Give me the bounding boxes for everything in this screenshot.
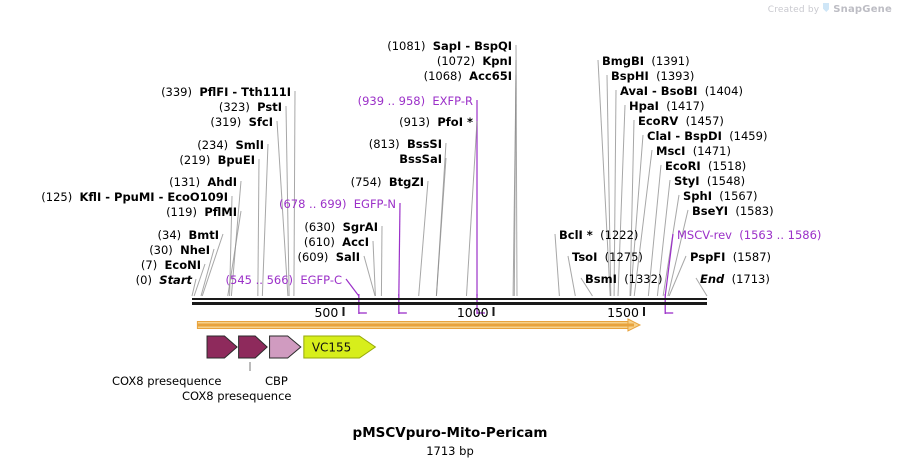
- leader-line: [618, 105, 625, 296]
- enzyme-name: BssSI: [407, 137, 442, 151]
- enzyme-name: AhdI: [207, 175, 237, 189]
- enzyme-position: (34): [158, 228, 182, 242]
- leader-line: [346, 279, 359, 296]
- enzyme-label[interactable]: BspHI (1393): [611, 71, 694, 83]
- feature-label: CBP: [265, 374, 288, 388]
- enzyme-label[interactable]: EcoRV (1457): [638, 116, 724, 128]
- feature-label: COX8 presequence: [112, 374, 221, 388]
- enzyme-position: (1567): [719, 189, 757, 203]
- enzyme-position: (1457): [686, 114, 724, 128]
- ruler-tick-label: 1000: [457, 305, 489, 320]
- leader-line: [294, 91, 295, 296]
- enzyme-name: BsmI: [585, 272, 617, 286]
- enzyme-name: BpuEI: [218, 153, 255, 167]
- enzyme-name: MSCV-rev: [677, 228, 732, 242]
- leader-line: [665, 234, 673, 296]
- enzyme-name: EXFP-R: [432, 94, 473, 108]
- enzyme-label[interactable]: (34) BmtI: [158, 230, 219, 242]
- enzyme-name: MscI: [656, 144, 685, 158]
- enzyme-name: SfcI: [249, 115, 273, 129]
- enzyme-position: (630): [304, 220, 335, 234]
- enzyme-label[interactable]: EcoRI (1518): [665, 161, 746, 173]
- enzyme-name: SmlI: [236, 138, 265, 152]
- ruler-tick: [342, 307, 344, 316]
- snapgene-watermark: Created by SnapGene: [768, 2, 892, 17]
- enzyme-position: (125): [41, 190, 72, 204]
- enzyme-name: SgrAI: [343, 220, 378, 234]
- enzyme-name: EcoNI: [165, 258, 201, 272]
- enzyme-position: (219): [179, 153, 210, 167]
- enzyme-label[interactable]: MscI (1471): [656, 146, 731, 158]
- enzyme-label[interactable]: MSCV-rev (1563 .. 1586): [677, 230, 821, 242]
- leader-line: [381, 226, 382, 296]
- enzyme-label[interactable]: (323) PstI: [219, 102, 282, 114]
- enzyme-name: ClaI - BspDI: [647, 129, 722, 143]
- enzyme-position: (1222): [600, 228, 638, 242]
- enzyme-name: BclI *: [559, 228, 593, 242]
- leader-line: [419, 181, 428, 296]
- enzyme-position: (1587): [733, 250, 771, 264]
- watermark-brand: SnapGene: [833, 4, 892, 15]
- feature-arrow[interactable]: [207, 336, 237, 358]
- enzyme-position: (1393): [656, 69, 694, 83]
- enzyme-name: AccI: [342, 235, 369, 249]
- enzyme-label[interactable]: (0) Start: [136, 275, 192, 287]
- enzyme-position: (1404): [705, 84, 743, 98]
- enzyme-label[interactable]: (30) NheI: [149, 245, 210, 257]
- enzyme-label[interactable]: (630) SgrAI: [304, 222, 378, 234]
- enzyme-position: (1713): [732, 272, 770, 286]
- feature-label-text: COX8 presequence: [112, 374, 221, 388]
- enzyme-label[interactable]: (609) SalI: [297, 252, 360, 264]
- enzyme-position: (545 .. 566): [226, 273, 294, 287]
- leader-line: [669, 256, 686, 296]
- plasmid-map-canvas: Created by SnapGene 50010001500VC155 (10…: [0, 0, 900, 465]
- page-title: pMSCVpuro-Mito-Pericam: [0, 425, 900, 441]
- enzyme-label[interactable]: (1068) Acc65I: [424, 71, 512, 83]
- leader-line: [614, 90, 616, 296]
- enzyme-name: SalI: [336, 250, 360, 264]
- leader-line: [399, 203, 400, 296]
- enzyme-label[interactable]: SphI (1567): [683, 191, 758, 203]
- enzyme-name: KflI - PpuMI - EcoO109I: [80, 190, 228, 204]
- enzyme-position: (610): [304, 235, 335, 249]
- enzyme-label[interactable]: BseYI (1583): [692, 206, 774, 218]
- enzyme-name: Acc65I: [469, 69, 512, 83]
- enzyme-position: (339): [161, 85, 192, 99]
- feature-label-text: CBP: [265, 374, 288, 388]
- enzyme-label[interactable]: (545 .. 566) EGFP-C: [226, 275, 342, 287]
- enzyme-label[interactable]: PspFI (1587): [690, 252, 771, 264]
- enzyme-name: HpaI: [629, 99, 659, 113]
- feature-arrow-label: VC155: [312, 341, 352, 355]
- leader-line: [436, 158, 446, 296]
- enzyme-label[interactable]: BsmI (1332): [585, 274, 662, 286]
- enzyme-position: (1391): [651, 54, 689, 68]
- leader-line: [555, 234, 559, 296]
- feature-label: COX8 presequence: [182, 389, 291, 403]
- enzyme-label[interactable]: AvaI - BsoBI (1404): [620, 86, 743, 98]
- enzyme-name: StyI: [674, 174, 700, 188]
- enzyme-name: BspHI: [611, 69, 649, 83]
- orf-arrow-core: [197, 324, 634, 327]
- enzyme-name: PstI: [257, 100, 282, 114]
- enzyme-position: (319): [210, 115, 241, 129]
- enzyme-position: (754): [351, 175, 382, 189]
- enzyme-position: (131): [169, 175, 200, 189]
- enzyme-name: PflFI - Tth111I: [199, 85, 291, 99]
- enzyme-label[interactable]: (913) PfoI *: [399, 117, 473, 129]
- leader-line: [373, 241, 375, 296]
- enzyme-label[interactable]: (319) SfcI: [210, 117, 273, 129]
- enzyme-name: EcoRV: [638, 114, 678, 128]
- enzyme-label[interactable]: (1072) KpnI: [437, 56, 512, 68]
- enzyme-label[interactable]: (119) PflMI: [166, 207, 237, 219]
- enzyme-label[interactable]: (125) KflI - PpuMI - EcoO109I: [41, 192, 228, 204]
- enzyme-name: PflMI: [204, 205, 237, 219]
- ruler-tick-label: 1500: [607, 305, 639, 320]
- enzyme-name: Start: [159, 273, 192, 287]
- enzyme-position: (7): [141, 258, 157, 272]
- enzyme-position: (234): [197, 138, 228, 152]
- enzyme-name: BtgZI: [389, 175, 424, 189]
- enzyme-position: (1068): [424, 69, 462, 83]
- enzyme-position: (1459): [729, 129, 767, 143]
- enzyme-label[interactable]: BssSaI: [399, 154, 442, 166]
- enzyme-label[interactable]: (234) SmlI: [197, 140, 264, 152]
- enzyme-label[interactable]: (813) BssSI: [369, 139, 442, 151]
- sequence-backbone-upper: [192, 298, 707, 300]
- enzyme-position: (609): [297, 250, 328, 264]
- enzyme-position: (939 .. 958): [358, 94, 426, 108]
- enzyme-position: (323): [219, 100, 250, 114]
- enzyme-name: PfoI *: [437, 115, 473, 129]
- enzyme-name: BssSaI: [399, 152, 442, 166]
- enzyme-label[interactable]: StyI (1548): [674, 176, 745, 188]
- enzyme-position: (813): [369, 137, 400, 151]
- enzyme-label[interactable]: (219) BpuEI: [179, 155, 255, 167]
- enzyme-label[interactable]: (939 .. 958) EXFP-R: [358, 96, 473, 108]
- enzyme-position: (1583): [735, 204, 773, 218]
- ruler-tick-label: 500: [314, 305, 338, 320]
- watermark-prefix: Created by: [768, 5, 820, 15]
- enzyme-name: BmgBI: [602, 54, 644, 68]
- enzyme-name: BmtI: [188, 228, 219, 242]
- enzyme-name: EGFP-N: [354, 197, 396, 211]
- enzyme-position: (913): [399, 115, 430, 129]
- enzyme-name: TsoI: [572, 250, 597, 264]
- enzyme-position: (678 .. 699): [279, 197, 347, 211]
- enzyme-position: (0): [136, 273, 152, 287]
- enzyme-position: (1471): [693, 144, 731, 158]
- enzyme-position: (1417): [666, 99, 704, 113]
- snapgene-logo-icon: [822, 2, 830, 17]
- sequence-length: 1713 bp: [0, 444, 900, 458]
- leader-line: [466, 121, 477, 296]
- enzyme-name: NheI: [180, 243, 210, 257]
- enzyme-label[interactable]: TsoI (1275): [572, 252, 643, 264]
- ruler-tick: [493, 307, 495, 316]
- enzyme-label[interactable]: (678 .. 699) EGFP-N: [279, 199, 396, 211]
- enzyme-name: SphI: [683, 189, 712, 203]
- enzyme-name: End: [700, 272, 724, 286]
- ruler-tick: [643, 307, 645, 316]
- enzyme-label[interactable]: ClaI - BspDI (1459): [647, 131, 767, 143]
- enzyme-label[interactable]: (7) EcoNI: [141, 260, 201, 272]
- enzyme-position: (1072): [437, 54, 475, 68]
- enzyme-position: (1548): [707, 174, 745, 188]
- enzyme-name: SapI - BspQI: [433, 39, 512, 53]
- enzyme-position: (1081): [387, 39, 425, 53]
- enzyme-position: (119): [166, 205, 197, 219]
- enzyme-label[interactable]: (610) AccI: [304, 237, 369, 249]
- enzyme-label[interactable]: (754) BtgZI: [351, 177, 424, 189]
- enzyme-position: (30): [149, 243, 173, 257]
- enzyme-name: PspFI: [690, 250, 725, 264]
- enzyme-position: (1332): [624, 272, 662, 286]
- enzyme-name: AvaI - BsoBI: [620, 84, 697, 98]
- enzyme-label[interactable]: (1081) SapI - BspQI: [387, 41, 512, 53]
- enzyme-label[interactable]: (339) PflFI - Tth111I: [161, 87, 291, 99]
- feature-arrow[interactable]: [270, 336, 301, 358]
- enzyme-name: EcoRI: [665, 159, 701, 173]
- enzyme-position: (1518): [708, 159, 746, 173]
- enzyme-name: EGFP-C: [300, 273, 342, 287]
- enzyme-position: (1275): [605, 250, 643, 264]
- enzyme-label[interactable]: BclI * (1222): [559, 230, 638, 242]
- leader-line: [630, 120, 634, 296]
- enzyme-name: KpnI: [482, 54, 512, 68]
- enzyme-label[interactable]: HpaI (1417): [629, 101, 704, 113]
- feature-arrow[interactable]: [239, 336, 268, 358]
- enzyme-name: BseYI: [692, 204, 728, 218]
- enzyme-label[interactable]: (131) AhdI: [169, 177, 237, 189]
- enzyme-label[interactable]: End (1713): [700, 274, 770, 286]
- feature-label-text: COX8 presequence: [182, 389, 291, 403]
- enzyme-position: (1563 .. 1586): [739, 228, 821, 242]
- enzyme-label[interactable]: BmgBI (1391): [602, 56, 690, 68]
